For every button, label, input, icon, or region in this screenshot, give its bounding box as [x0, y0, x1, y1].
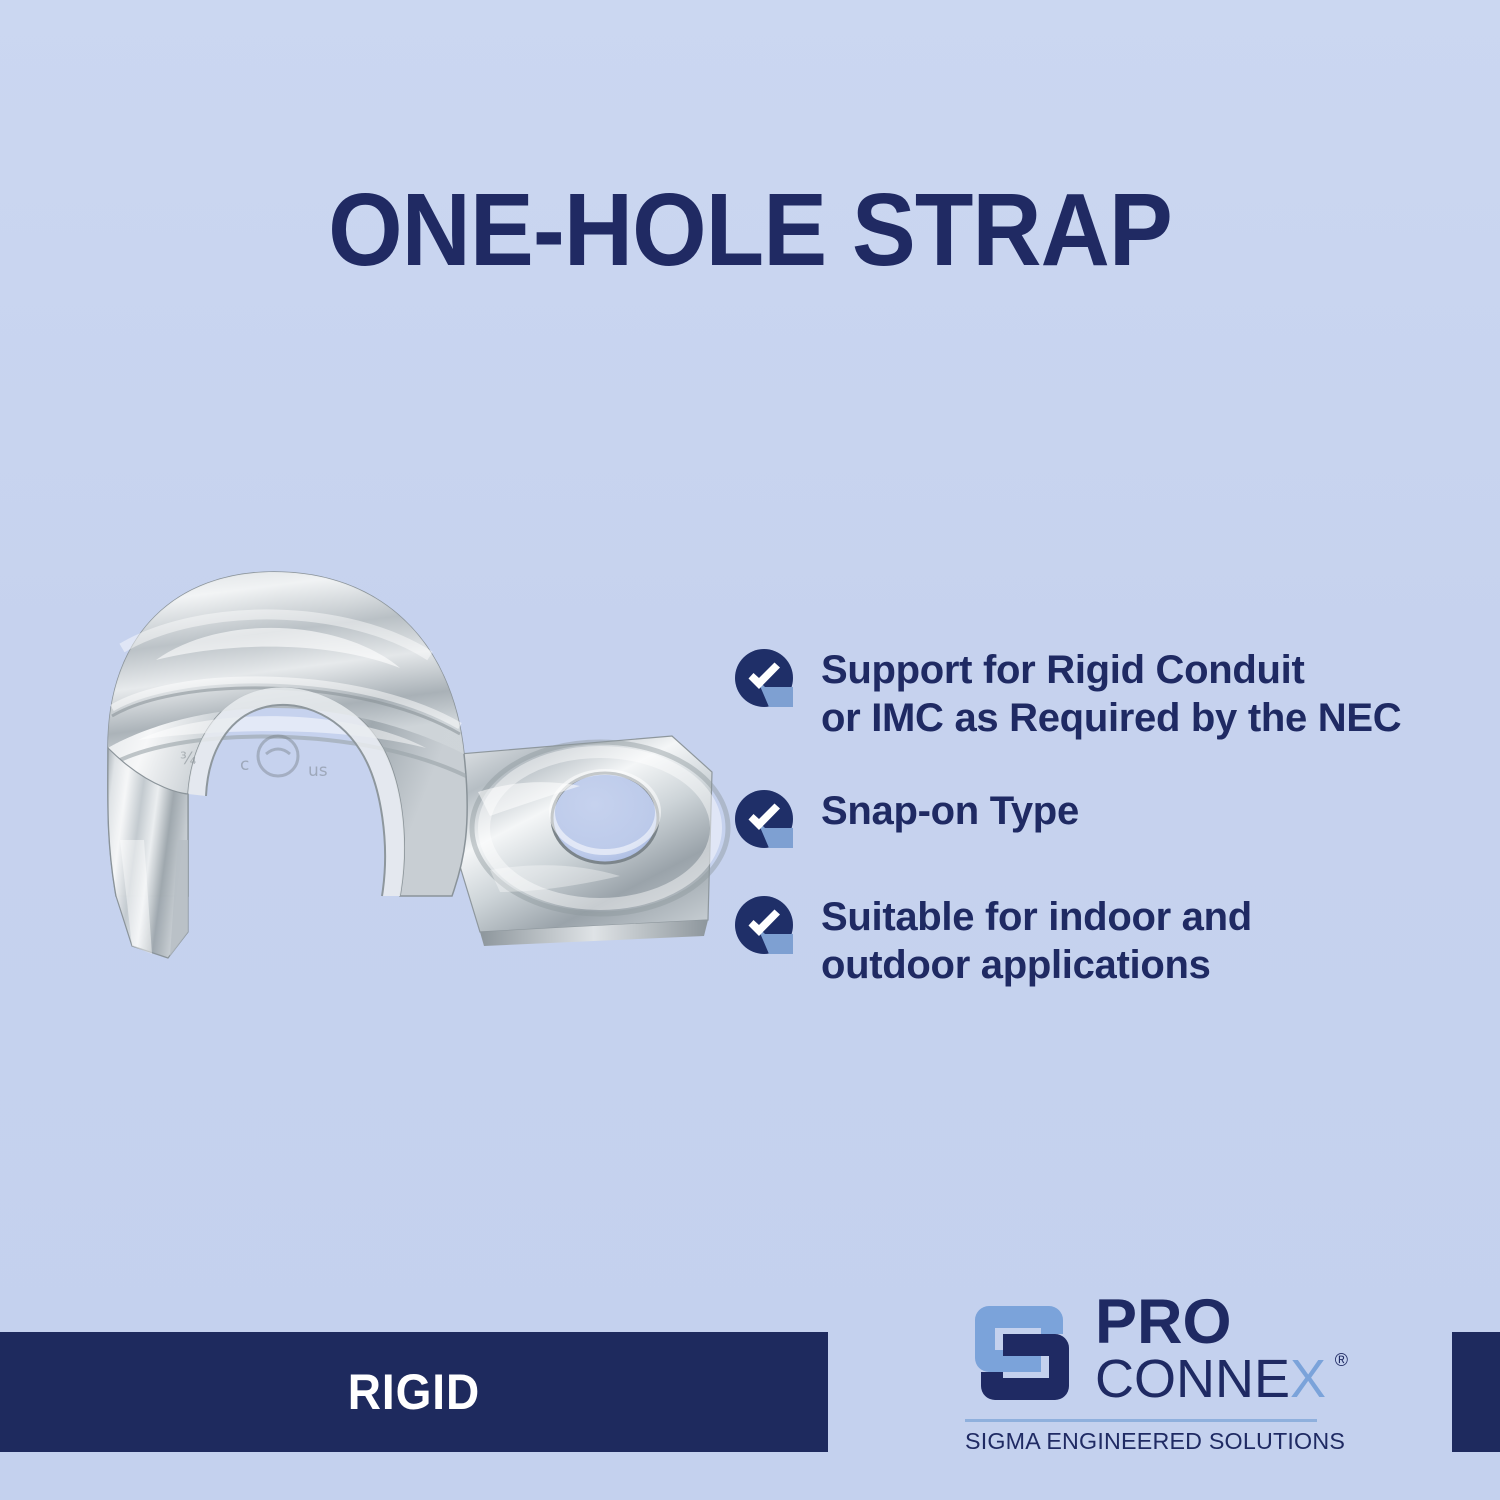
- logo-brand-secondary: CONNE: [1095, 1349, 1290, 1409]
- svg-text:¾: ¾: [180, 749, 196, 769]
- logo-brand-primary: PRO: [1095, 1294, 1326, 1352]
- brand-logo: PRO CONNEX® SIGMA ENGINEERED SOLUTIONS: [963, 1288, 1323, 1468]
- interlocking-s-logo-mark-icon: [963, 1294, 1081, 1412]
- registered-trademark-icon: ®: [1335, 1350, 1348, 1371]
- feature-item: Support for Rigid Conduit or IMC as Requ…: [735, 645, 1475, 742]
- logo-divider: [965, 1419, 1317, 1422]
- feature-label: Suitable for indoor and outdoor applicat…: [821, 892, 1252, 989]
- product-image: c us ¾: [60, 540, 760, 1010]
- check-circle-icon: [735, 790, 793, 848]
- svg-text:us: us: [308, 761, 328, 781]
- category-label: RIGID: [348, 1363, 480, 1421]
- logo-brand-accent-letter: X: [1290, 1349, 1326, 1409]
- svg-text:c: c: [240, 755, 249, 775]
- feature-item: Snap-on Type: [735, 786, 1475, 848]
- feature-label: Snap-on Type: [821, 786, 1079, 835]
- check-circle-icon: [735, 896, 793, 954]
- check-circle-icon: [735, 649, 793, 707]
- feature-label: Support for Rigid Conduit or IMC as Requ…: [821, 645, 1401, 742]
- right-edge-accent-tab: [1452, 1332, 1500, 1452]
- poster-canvas: ONE-HOLE STRAP: [0, 0, 1500, 1500]
- feature-list: Support for Rigid Conduit or IMC as Requ…: [735, 645, 1475, 989]
- feature-item: Suitable for indoor and outdoor applicat…: [735, 892, 1475, 989]
- category-banner: RIGID: [0, 1332, 828, 1452]
- logo-tagline: SIGMA ENGINEERED SOLUTIONS: [965, 1428, 1319, 1455]
- page-title: ONE-HOLE STRAP: [53, 178, 1448, 281]
